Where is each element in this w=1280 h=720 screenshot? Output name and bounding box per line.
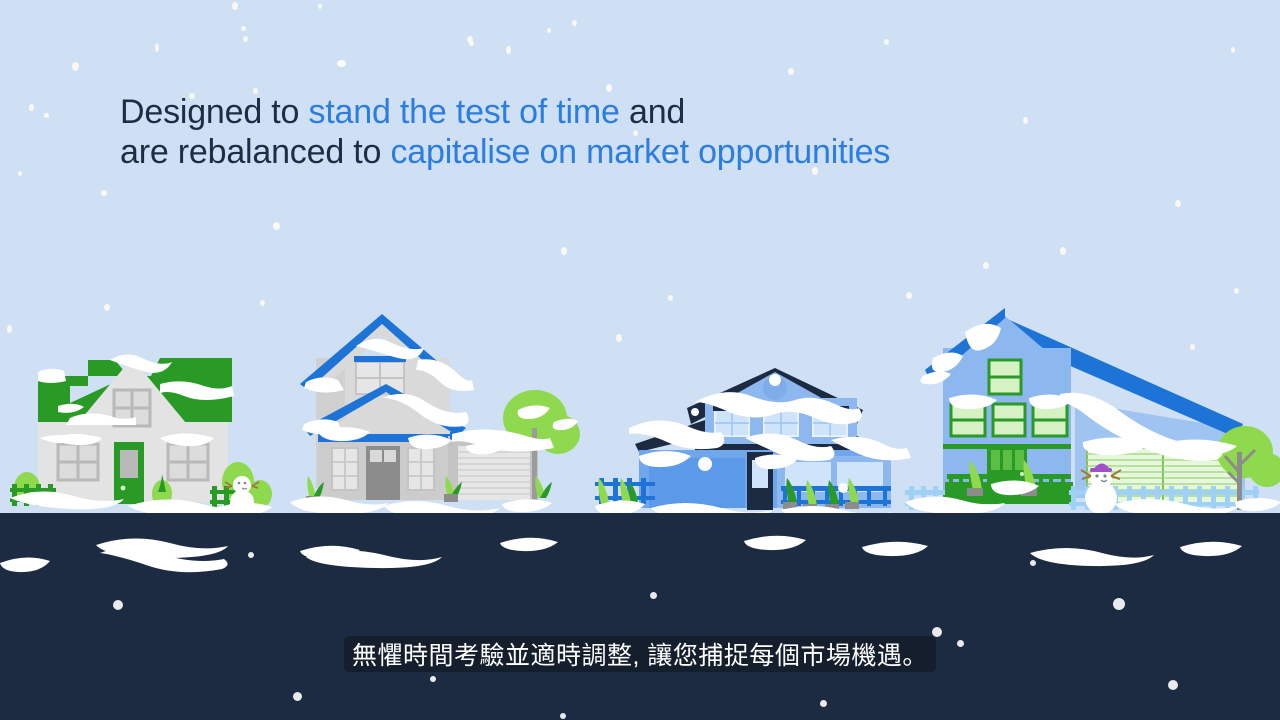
headline-line2-plain: are rebalanced to	[120, 133, 390, 171]
house-2-grey-blue-trim	[290, 306, 600, 520]
subtitle-caption-box: 無懼時間考驗並適時調整, 讓您捕捉每個市場機遇。	[344, 636, 936, 672]
headline-line1-highlight: stand the test of time	[309, 93, 620, 131]
winter-scene: Designed to stand the test of time and a…	[0, 0, 1280, 720]
headline-line-2: are rebalanced to capitalise on market o…	[120, 132, 1080, 172]
house-4-blue-green-trim	[905, 302, 1280, 520]
headline-line1-plain-a: Designed to	[120, 93, 309, 131]
house-1-grey-green-roof	[10, 330, 300, 520]
headline-line1-plain-b: and	[620, 93, 685, 131]
headline-line-1: Designed to stand the test of time and	[120, 92, 1080, 132]
ground-snow-drifts	[0, 505, 1280, 635]
subtitle-text: 無懼時間考驗並適時調整, 讓您捕捉每個市場機遇。	[352, 636, 928, 672]
headline-line2-highlight: capitalise on market opportunities	[390, 133, 890, 171]
page-title: Designed to stand the test of time and a…	[120, 92, 1080, 172]
house-3-blue-navy-roof	[595, 352, 915, 520]
